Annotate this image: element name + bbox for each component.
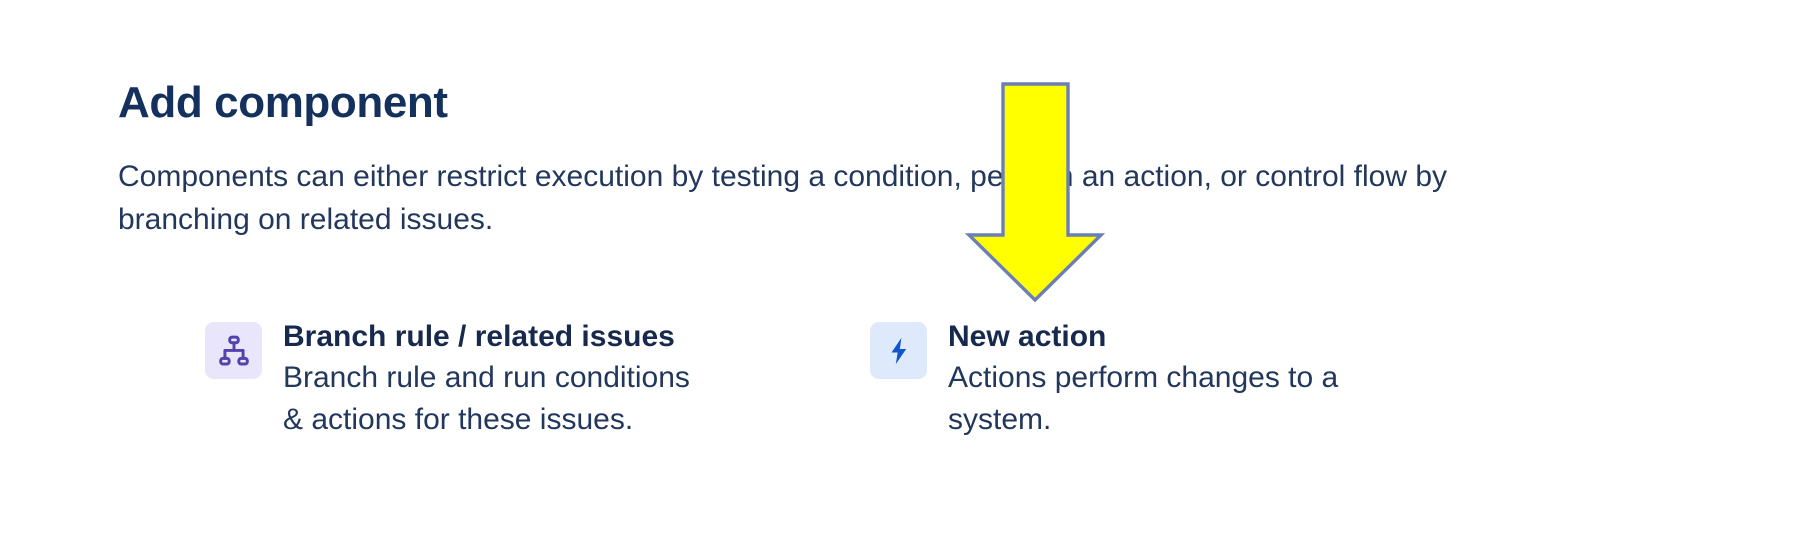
- component-option-branch-rule[interactable]: Branch rule / related issues Branch rule…: [205, 318, 765, 441]
- component-option-title: New action: [948, 320, 1106, 353]
- card-text-block: Branch rule / related issues Branch rule…: [283, 318, 703, 441]
- hierarchy-icon: [205, 322, 262, 379]
- panel-description: Components can either restrict execution…: [118, 156, 1508, 241]
- component-option-new-action[interactable]: New action Actions perform changes to a …: [870, 318, 1430, 441]
- component-options-list: Branch rule / related issues Branch rule…: [0, 318, 1800, 508]
- page-title: Add component: [118, 79, 448, 127]
- add-component-panel: Add component Components can either rest…: [0, 0, 1800, 541]
- component-option-description: Branch rule and run conditions & actions…: [283, 357, 703, 441]
- lightning-bolt-icon: [870, 322, 927, 379]
- component-option-description: Actions perform changes to a system.: [948, 357, 1353, 441]
- card-text-block: New action Actions perform changes to a …: [948, 318, 1353, 441]
- component-option-title: Branch rule / related issues: [283, 320, 675, 353]
